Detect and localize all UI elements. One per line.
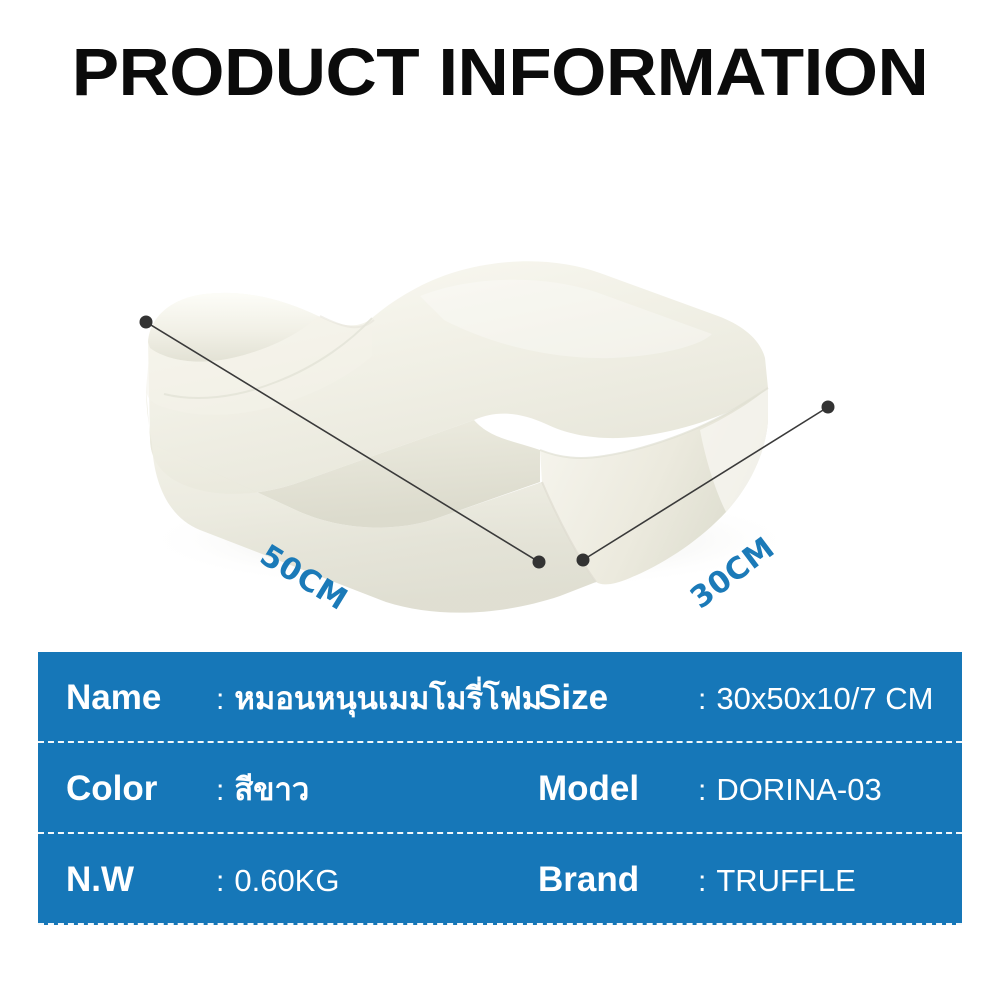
- info-row: Color : สีขาว Model : DORINA-03: [38, 743, 962, 834]
- info-label-name: Name: [66, 652, 216, 743]
- product-information-page: PRODUCT INFORMATION: [0, 0, 1000, 1000]
- info-colon: :: [216, 745, 234, 836]
- info-field-net-weight: N.W : 0.60KG: [38, 834, 538, 925]
- row-separator: [38, 923, 962, 925]
- info-colon: :: [216, 836, 234, 927]
- info-colon: :: [698, 745, 716, 836]
- info-colon: :: [216, 654, 234, 745]
- info-row: Name : หมอนหนุนเมมโมรี่โฟม Size : 30x50x…: [38, 652, 962, 743]
- info-colon: :: [698, 836, 716, 927]
- info-label-brand: Brand: [538, 834, 698, 925]
- info-colon: :: [698, 654, 716, 745]
- info-field-model: Model : DORINA-03: [538, 743, 962, 834]
- product-info-panel: Name : หมอนหนุนเมมโมรี่โฟม Size : 30x50x…: [38, 652, 962, 925]
- info-row: N.W : 0.60KG Brand : TRUFFLE: [38, 834, 962, 925]
- info-field-color: Color : สีขาว: [38, 743, 538, 834]
- page-title: PRODUCT INFORMATION: [0, 34, 1000, 112]
- dimension-lines: [0, 120, 1000, 640]
- info-field-name: Name : หมอนหนุนเมมโมรี่โฟม: [38, 652, 538, 743]
- info-label-color: Color: [66, 743, 216, 834]
- info-value-name: หมอนหนุนเมมโมรี่โฟม: [234, 654, 542, 745]
- info-value-size: 30x50x10/7 CM: [716, 653, 933, 744]
- info-label-net-weight: N.W: [66, 834, 216, 925]
- info-field-brand: Brand : TRUFFLE: [538, 834, 962, 925]
- info-label-model: Model: [538, 743, 698, 834]
- info-value-net-weight: 0.60KG: [234, 835, 339, 926]
- info-label-size: Size: [538, 652, 698, 743]
- info-field-size: Size : 30x50x10/7 CM: [538, 652, 962, 743]
- info-value-brand: TRUFFLE: [716, 835, 856, 926]
- info-value-model: DORINA-03: [716, 744, 881, 835]
- product-image: 50CM 30CM: [0, 120, 1000, 640]
- info-value-color: สีขาว: [234, 745, 309, 836]
